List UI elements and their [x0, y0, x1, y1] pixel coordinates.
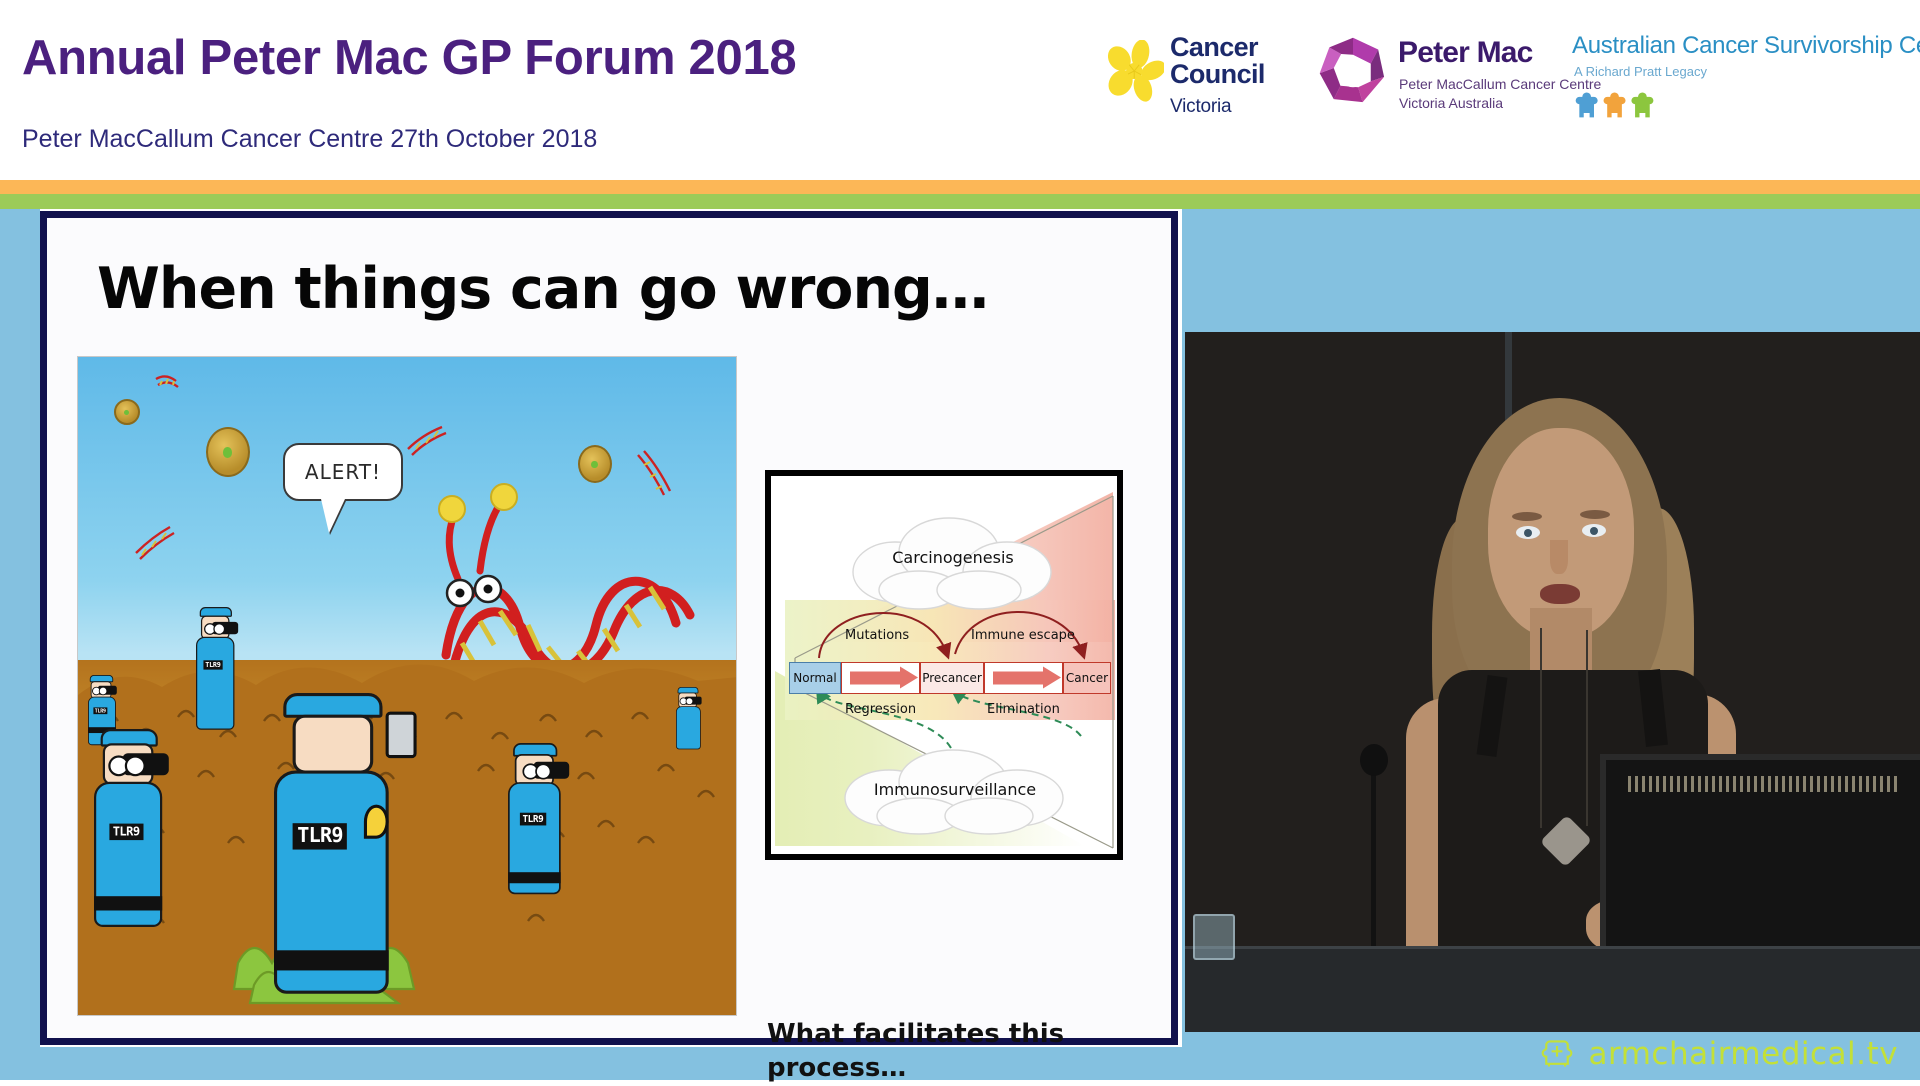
water-glass: [1193, 914, 1235, 960]
immune-escape-label: Immune escape: [971, 628, 1075, 643]
elimination-label: Elimination: [987, 702, 1060, 717]
watermark-text: armchairmedical.tv: [1589, 1036, 1898, 1072]
daffodil-icon: [1102, 40, 1164, 102]
microphone-icon: [1371, 770, 1376, 950]
peter-mac-wordmark: Peter Mac: [1398, 36, 1533, 70]
immunosurveillance-label: Immunosurveillance: [841, 780, 1069, 799]
armchairmedical-watermark: armchairmedical.tv: [1539, 1036, 1898, 1072]
acsc-title: Australian Cancer Survivorship Centre: [1572, 32, 1920, 60]
armchair-medical-icon: [1539, 1037, 1575, 1071]
cancer-council-line2: Council: [1170, 61, 1265, 88]
officer-label: TLR9: [520, 813, 546, 826]
page-header: Annual Peter Mac GP Forum 2018 Peter Mac…: [0, 0, 1920, 180]
slide-backdrop: When things can go wrong…: [40, 209, 1182, 1047]
tlr9-cartoon-image: ALERT!: [77, 356, 737, 1016]
carcinogenesis-label: Carcinogenesis: [849, 548, 1057, 567]
peter-mac-logo: Peter Mac Peter MacCallum Cancer Centre …: [1316, 28, 1546, 136]
accent-bar-green: [0, 194, 1920, 209]
sponsor-logos: Cancer Council Victoria Pe: [1102, 28, 1912, 144]
node-normal: Normal: [789, 662, 841, 694]
cancer-council-victoria-logo: Cancer Council Victoria: [1102, 28, 1290, 136]
peter-mac-subline-1: Peter MacCallum Cancer Centre: [1399, 76, 1601, 92]
acsc-tagline: A Richard Pratt Legacy: [1574, 64, 1707, 79]
speaker-video-panel[interactable]: [1185, 332, 1920, 1032]
ground-mounds: [78, 637, 737, 1016]
alert-speech-bubble: ALERT!: [283, 443, 403, 501]
radio-icon: [386, 712, 417, 759]
arrow-precancer-to-cancer: [984, 662, 1063, 694]
officer-label: TLR9: [293, 823, 348, 849]
peter-mac-subline-2: Victoria Australia: [1399, 95, 1503, 111]
page-subtitle: Peter MacCallum Cancer Centre 27th Octob…: [22, 125, 597, 154]
peter-mac-hexagon-icon: [1316, 34, 1390, 108]
acsc-logo: Australian Cancer Survivorship Centre A …: [1572, 28, 1912, 136]
officer-label: TLR9: [203, 660, 222, 669]
carcinogenesis-immunosurveillance-diagram: Carcinogenesis Immunosurveillance: [765, 470, 1123, 860]
page-title: Annual Peter Mac GP Forum 2018: [22, 30, 796, 86]
cancer-council-wordmark: Cancer Council: [1170, 34, 1265, 88]
arrow-normal-to-precancer: [841, 662, 920, 694]
node-precancer: Precancer: [920, 662, 984, 694]
slide-caption: What facilitates this process…: [767, 1018, 1097, 1086]
accent-bar-orange: [0, 180, 1920, 194]
mutations-label: Mutations: [845, 628, 909, 643]
regression-label: Regression: [845, 702, 916, 717]
node-cancer: Cancer: [1063, 662, 1111, 694]
lectern-monitor: [1600, 754, 1920, 954]
speaker-face: [1488, 428, 1634, 638]
lectern: [1185, 946, 1920, 1032]
puzzle-people-icon: [1572, 82, 1682, 122]
presentation-stage: When things can go wrong…: [0, 209, 1920, 1080]
cancer-council-line1: Cancer: [1170, 34, 1265, 61]
progression-chain: Normal Precancer Cancer: [789, 662, 1111, 694]
officer-label: TLR9: [93, 707, 107, 714]
cancer-council-state: Victoria: [1170, 96, 1231, 118]
officer-label: TLR9: [109, 824, 143, 841]
slide-title: When things can go wrong…: [97, 256, 988, 322]
officer-badge-icon: [364, 805, 389, 839]
presentation-slide: When things can go wrong…: [40, 211, 1178, 1045]
